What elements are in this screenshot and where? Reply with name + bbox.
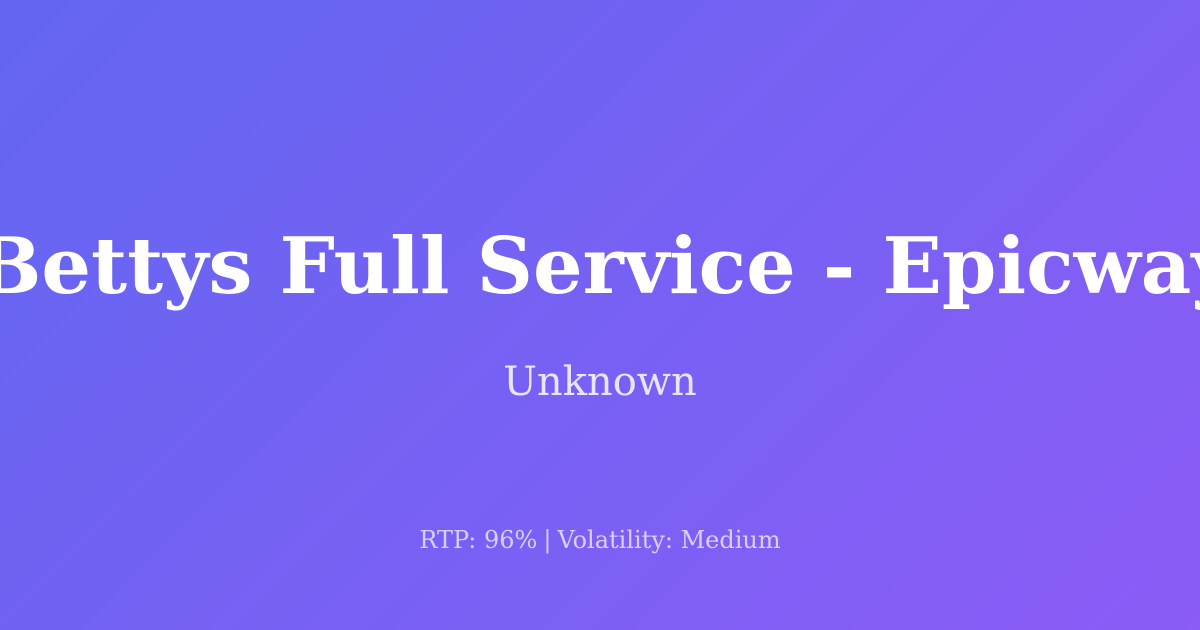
title-row: F 0 Bettys Full Service - Epicways — [0, 228, 1200, 306]
game-preview-card: F 0 Bettys Full Service - Epicways Unkno… — [0, 0, 1200, 630]
game-meta: RTP: 96%|Volatility: Medium — [0, 528, 1200, 552]
rtp-value: RTP: 96% — [419, 526, 537, 554]
provider-name: Unknown — [0, 362, 1200, 402]
game-title: Bettys Full Service - Epicways — [0, 228, 1200, 306]
meta-separator: | — [537, 526, 557, 554]
volatility-value: Volatility: Medium — [557, 526, 780, 554]
